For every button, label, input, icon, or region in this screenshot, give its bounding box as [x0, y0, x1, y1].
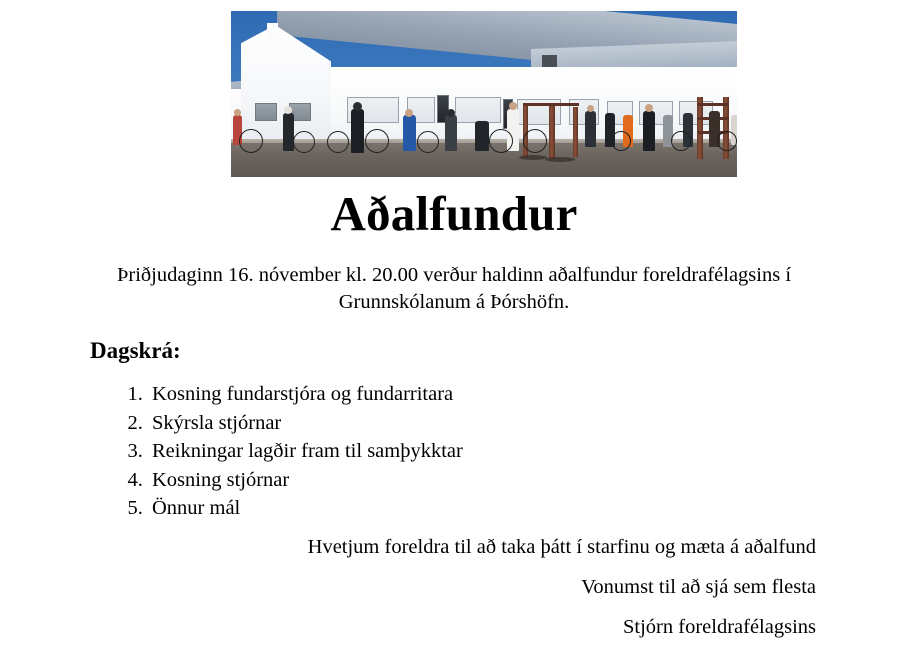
bicycle-wheel	[327, 131, 349, 153]
agenda-list: Kosning fundarstjóra og fundarritara Ský…	[118, 380, 463, 523]
bicycle-wheel	[611, 131, 631, 151]
intro-paragraph: Þriðjudaginn 16. nóvember kl. 20.00 verð…	[90, 262, 818, 316]
person	[643, 111, 655, 151]
bicycle-wheel	[523, 129, 547, 153]
bicycle-wheel	[365, 129, 389, 153]
wooden-beam	[697, 103, 729, 106]
poster-page: Aðalfundur Þriðjudaginn 16. nóvember kl.…	[0, 0, 908, 665]
list-item: Kosning stjórnar	[148, 466, 463, 495]
bicycle-wheel	[417, 131, 439, 153]
person-head	[509, 102, 517, 110]
bicycle-wheel	[717, 131, 737, 151]
closing-line-3: Stjórn foreldrafélagsins	[90, 614, 816, 641]
list-item: Önnur mál	[148, 494, 463, 523]
person-head	[234, 109, 241, 116]
person	[403, 115, 416, 151]
person-head	[405, 109, 413, 117]
bicycle-wheel	[239, 129, 263, 153]
person	[351, 109, 364, 153]
wooden-post	[549, 103, 555, 159]
chimney	[267, 23, 278, 47]
list-item: Kosning fundarstjóra og fundarritara	[148, 380, 463, 409]
wooden-post	[573, 107, 578, 157]
person	[445, 115, 457, 151]
person	[475, 121, 489, 151]
closing-line-2: Vonumst til að sjá sem flesta	[90, 574, 816, 601]
person	[283, 113, 294, 151]
person-head	[447, 109, 455, 117]
person-head	[587, 105, 594, 112]
person-head	[353, 102, 362, 111]
closing-line-1: Hvetjum foreldra til að taka þátt í star…	[90, 534, 816, 561]
school-building-photo	[231, 11, 737, 177]
list-item: Reikningar lagðir fram til samþykktar	[148, 437, 463, 466]
page-title: Aðalfundur	[0, 185, 908, 243]
bicycle-wheel	[293, 131, 315, 153]
window	[255, 103, 277, 121]
photo-canvas	[231, 11, 737, 177]
person	[585, 111, 596, 147]
roof-vent	[542, 55, 557, 67]
post-shadow	[519, 155, 547, 160]
person-head	[645, 104, 653, 112]
list-item: Skýrsla stjórnar	[148, 409, 463, 438]
bicycle-wheel	[489, 129, 513, 153]
wooden-post	[697, 97, 703, 159]
post-shadow	[545, 157, 575, 162]
person-head	[284, 106, 292, 114]
wooden-beam	[523, 103, 579, 106]
window	[455, 97, 501, 123]
bicycle-wheel	[671, 131, 691, 151]
agenda-heading: Dagskrá:	[90, 336, 181, 366]
